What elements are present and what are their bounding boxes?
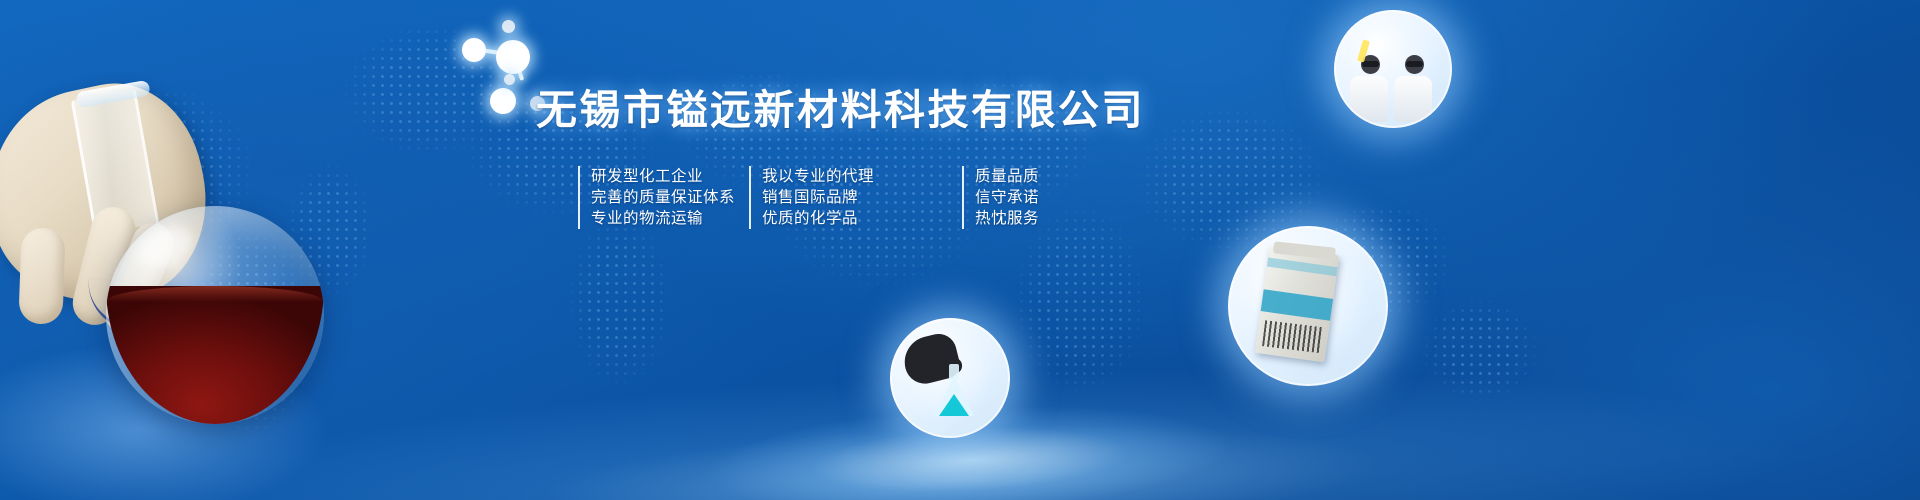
slogan-line: 我以专业的代理 [762, 166, 962, 187]
molecule-node [462, 38, 486, 62]
slogan-line: 热忱服务 [975, 208, 1095, 229]
packet-stripe [1267, 258, 1338, 277]
sample-packet [1255, 246, 1339, 363]
slogan-line: 专业的物流运输 [591, 208, 749, 229]
chemical-sample-packet-photo [1228, 226, 1388, 386]
scientist-figure [1350, 55, 1390, 122]
slogan-line: 优质的化学品 [762, 208, 962, 229]
flask-bulb [106, 206, 324, 424]
company-title: 无锡市镒远新材料科技有限公司 [536, 90, 1145, 131]
slogan-column-agency: 我以专业的代理 销售国际品牌 优质的化学品 [749, 166, 962, 229]
flask-cone [934, 376, 974, 416]
packet-label-band [1261, 289, 1333, 321]
scientist-head [1361, 55, 1380, 74]
dark-red-liquid [106, 286, 324, 424]
molecule-node [502, 20, 515, 33]
packet-cap [1273, 241, 1336, 259]
molecule-node [504, 74, 515, 85]
company-hero-banner: 无锡市镒远新材料科技有限公司 研发型化工企业 完善的质量保证体系 专业的物流运输… [0, 0, 1920, 500]
slogan-line: 研发型化工企业 [591, 166, 749, 187]
glove-finger [18, 227, 65, 324]
scientists-illustration [1334, 10, 1452, 128]
scientist-figure [1394, 55, 1434, 122]
slogan-line: 信守承诺 [975, 187, 1095, 208]
gloved-hand-holding-round-bottom-flask [0, 88, 350, 500]
molecule-node [496, 40, 530, 74]
slogan-line: 销售国际品牌 [762, 187, 962, 208]
scientist-labcoat [1394, 76, 1432, 122]
test-tube-icon [1357, 39, 1370, 62]
flask-liquid [939, 394, 969, 416]
slogan-column-service: 质量品质 信守承诺 热忱服务 [962, 166, 1095, 229]
scientist-labcoat [1350, 76, 1388, 122]
slogan-group: 研发型化工企业 完善的质量保证体系 专业的物流运输 我以专业的代理 销售国际品牌… [578, 166, 1095, 229]
slogan-line: 质量品质 [975, 166, 1095, 187]
hand-silhouette [899, 330, 963, 388]
flask-neck [949, 364, 959, 380]
barcode-icon [1262, 320, 1323, 353]
hand-holding-conical-flask-photo [890, 318, 1010, 438]
slogan-line: 完善的质量保证体系 [591, 187, 749, 208]
scientist-head [1405, 55, 1424, 74]
slogan-column-rd: 研发型化工企业 完善的质量保证体系 专业的物流运输 [578, 166, 749, 229]
molecule-node [490, 88, 516, 114]
conical-flask-icon [934, 364, 974, 416]
scientists-in-lab-photo [1334, 10, 1452, 128]
